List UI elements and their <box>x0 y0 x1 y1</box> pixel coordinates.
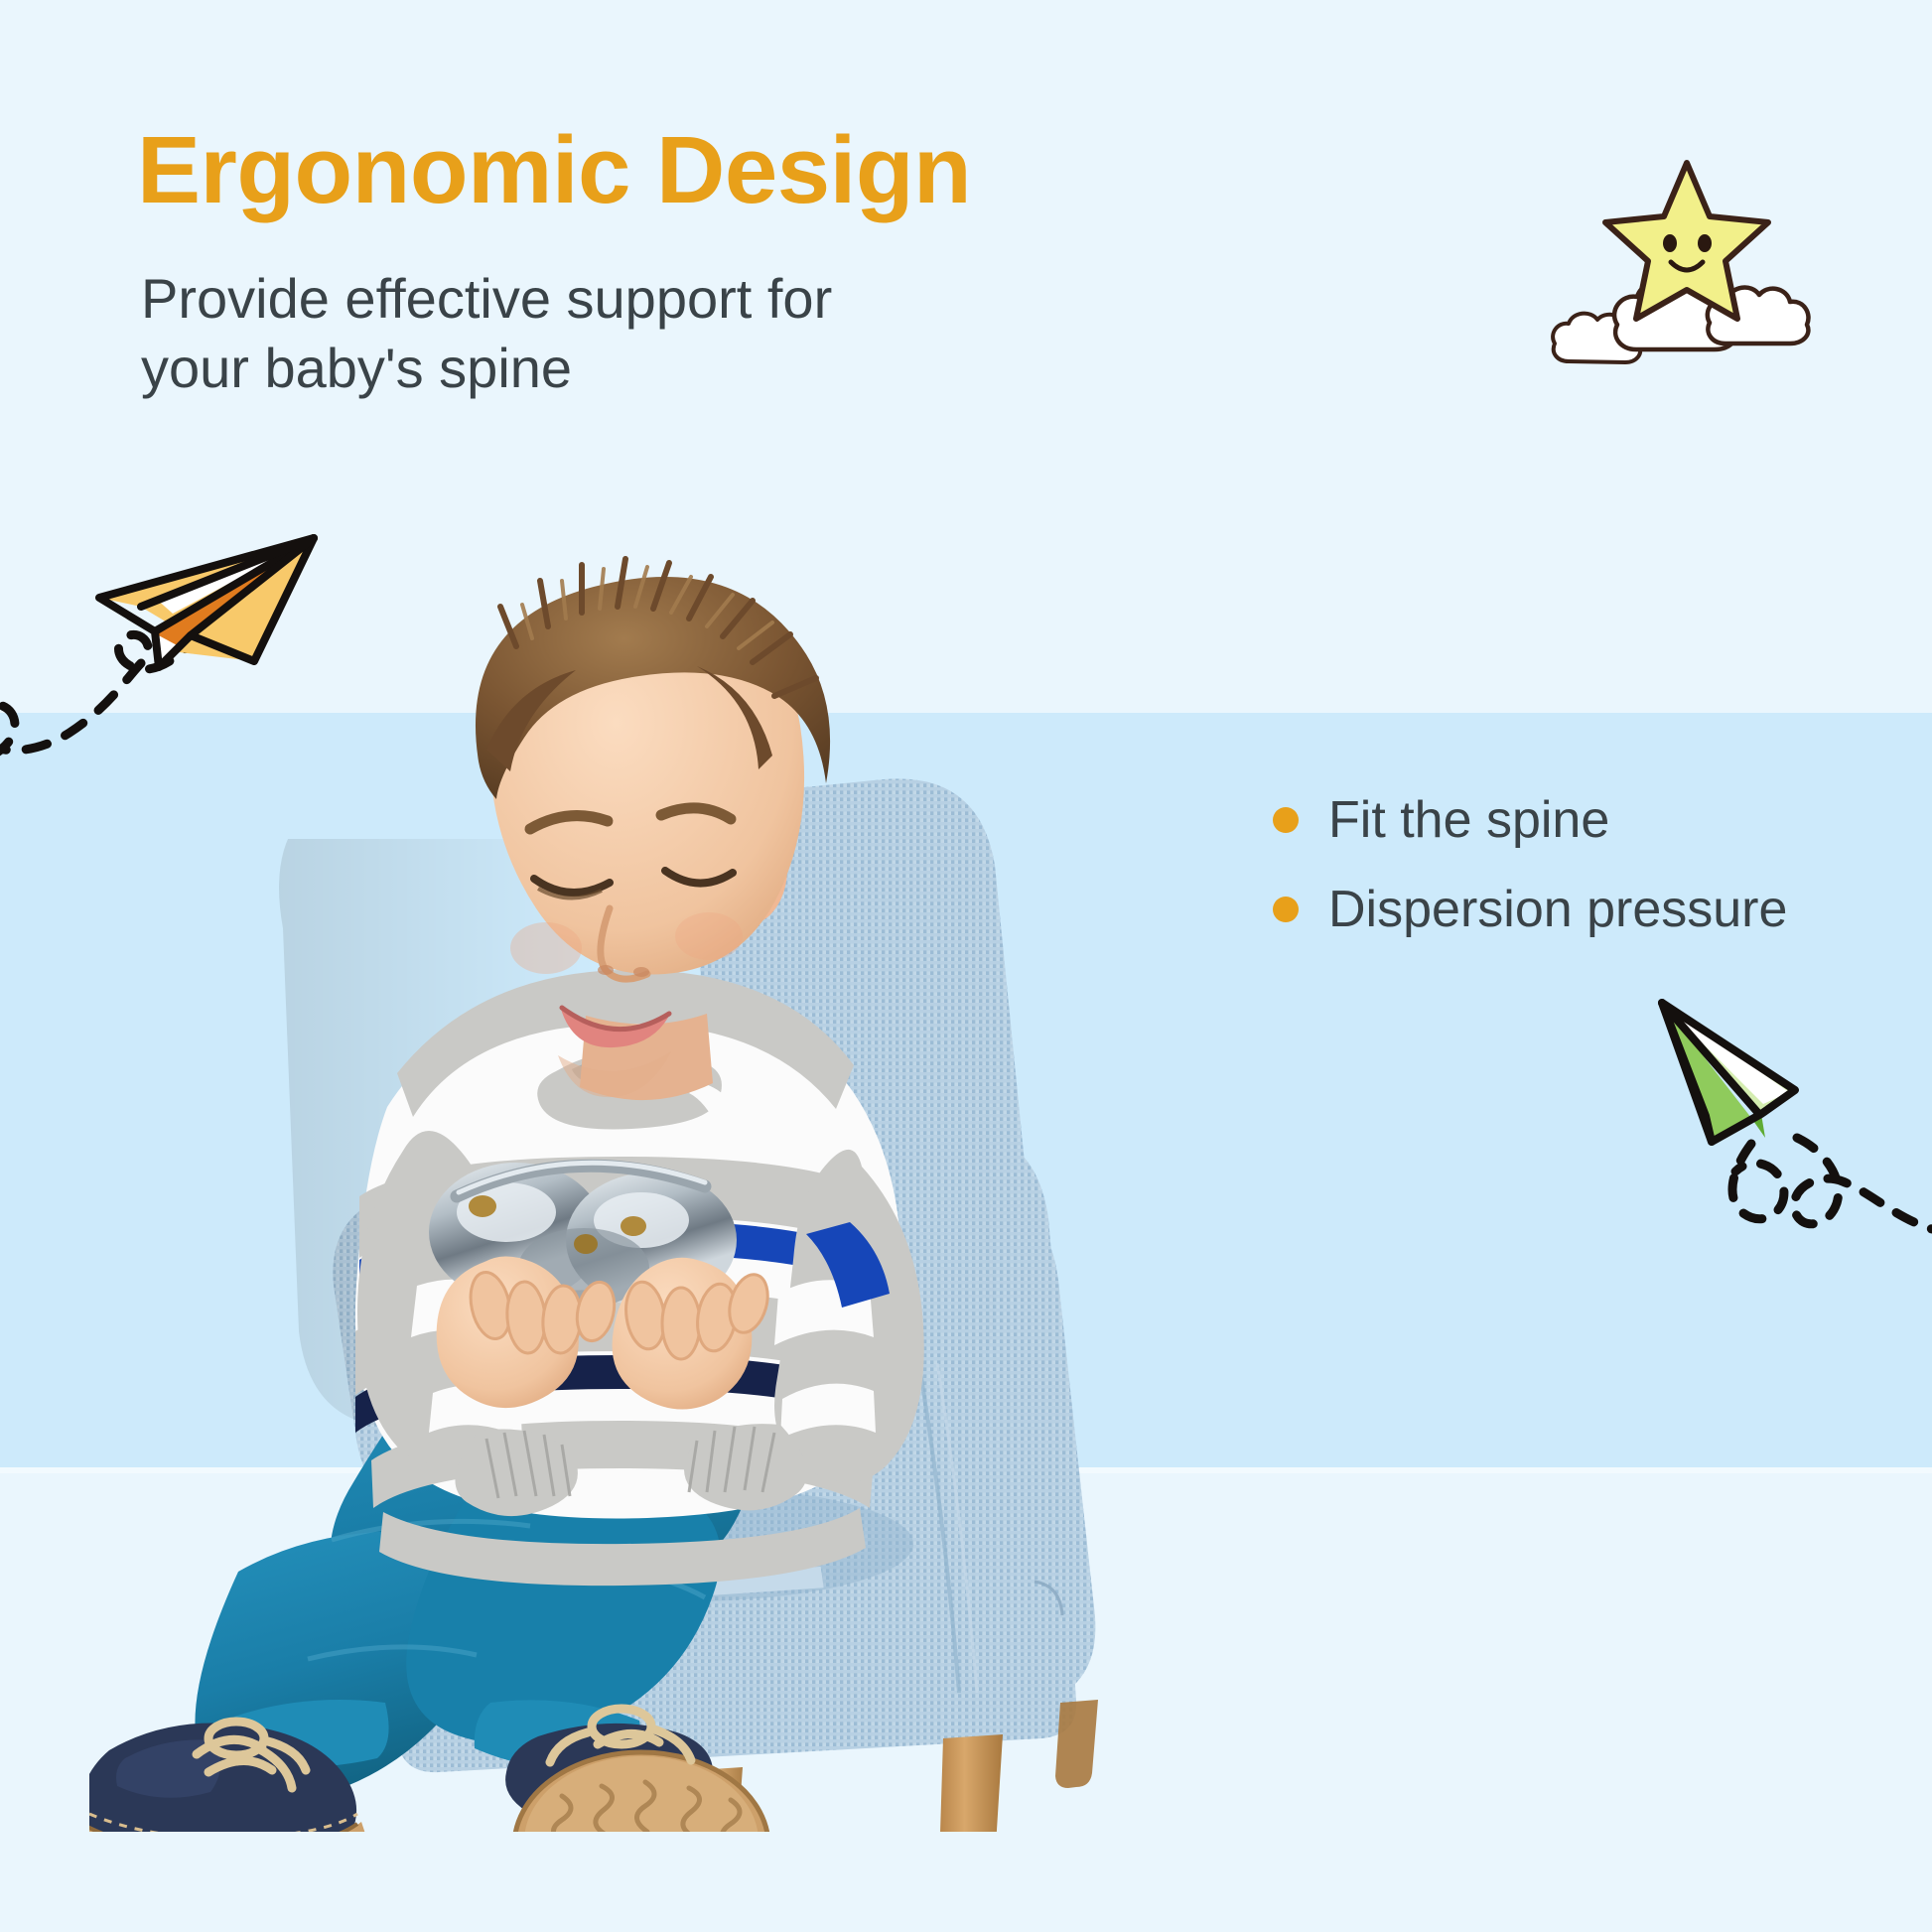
bullet-dot-icon <box>1273 807 1299 833</box>
feature-list: Fit the spine Dispersion pressure <box>1273 794 1888 973</box>
page-title: Ergonomic Design <box>137 121 971 221</box>
list-item: Fit the spine <box>1273 794 1888 846</box>
promo-banner: Ergonomic Design Provide effective suppo… <box>0 0 1932 1932</box>
page-subtitle: Provide effective support for your baby'… <box>141 264 955 403</box>
bullet-dot-icon <box>1273 897 1299 922</box>
product-photo-boy-in-chair <box>89 412 1191 1832</box>
star-cloud-icon <box>1551 139 1819 367</box>
subtitle-line-2: your baby's spine <box>141 334 955 403</box>
feature-label: Fit the spine <box>1328 794 1609 846</box>
subtitle-line-1: Provide effective support for <box>141 264 955 334</box>
list-item: Dispersion pressure <box>1273 884 1888 935</box>
paper-plane-green-icon <box>1648 993 1932 1281</box>
feature-label: Dispersion pressure <box>1328 884 1787 935</box>
